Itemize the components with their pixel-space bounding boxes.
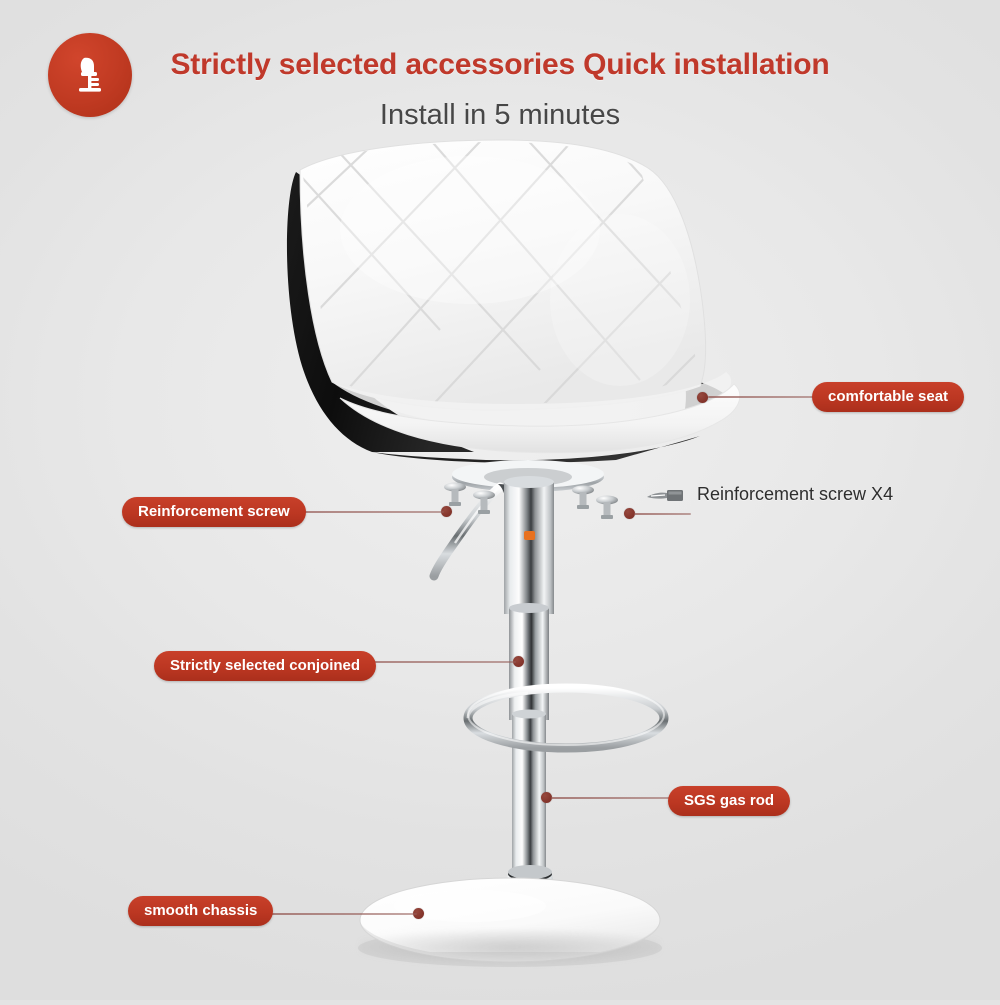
- callout-reinforcement-screw-x4[interactable]: Reinforcement screw X4: [697, 484, 893, 505]
- footrest-ring: [468, 685, 664, 748]
- infographic-canvas: Strictly selected accessories Quick inst…: [0, 0, 1000, 1000]
- seat-assembly: [250, 100, 780, 463]
- callout-smooth-chassis[interactable]: smooth chassis: [128, 896, 273, 926]
- page-title: Strictly selected accessories Quick inst…: [0, 48, 1000, 82]
- callout-strictly-selected-conjoined[interactable]: Strictly selected conjoined: [154, 651, 376, 681]
- callout-line-smooth-chassis: [260, 913, 417, 915]
- callout-line-comfortable-seat: [708, 396, 814, 398]
- callout-sgs-gas-rod[interactable]: SGS gas rod: [668, 786, 790, 816]
- callout-comfortable-seat[interactable]: comfortable seat: [812, 382, 964, 412]
- callout-dot-comfortable-seat: [697, 392, 708, 403]
- wrench-icon: [645, 486, 689, 511]
- callout-line-sgs-gas-rod: [551, 797, 671, 799]
- callout-reinforcement-screw[interactable]: Reinforcement screw: [122, 497, 306, 527]
- page-subtitle: Install in 5 minutes: [0, 99, 1000, 132]
- callout-line-reinforcement-screw-x4: [634, 513, 691, 515]
- floor-shadow: [360, 930, 660, 964]
- gas-cylinder: [504, 476, 554, 890]
- marker-band: [524, 531, 535, 540]
